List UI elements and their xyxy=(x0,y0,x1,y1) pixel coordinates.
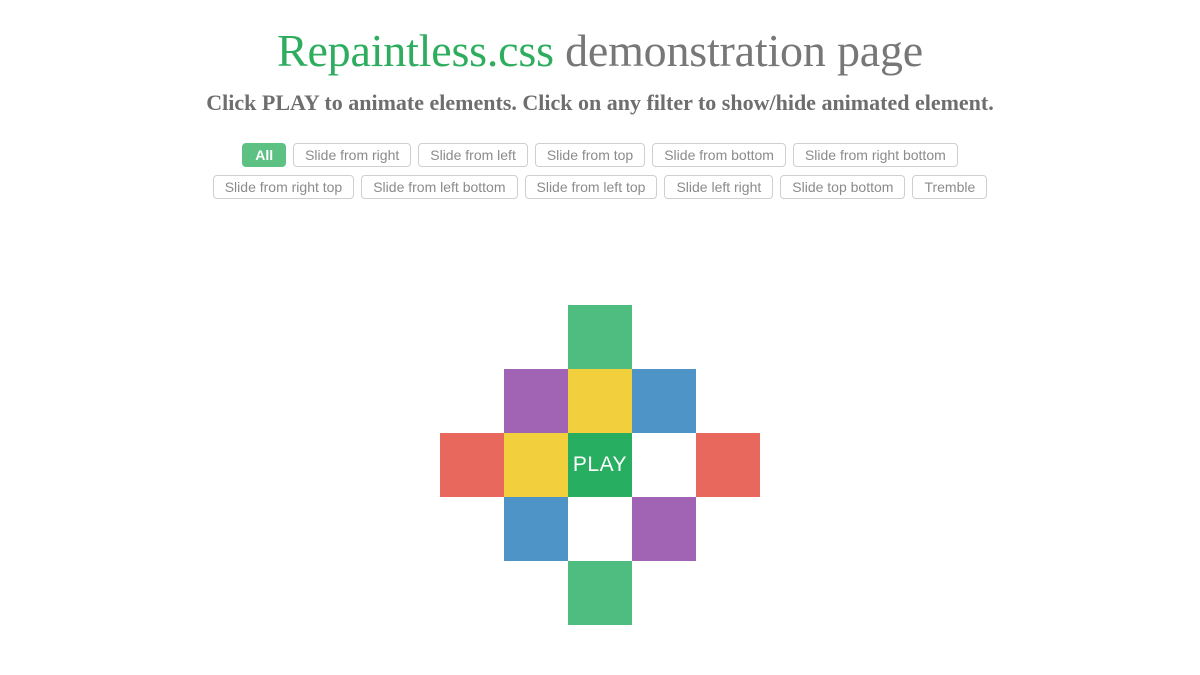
filter-button-slide-from-left-top[interactable]: Slide from left top xyxy=(525,175,658,199)
cell-r2c1 xyxy=(440,369,504,433)
cell-r2c2 xyxy=(504,369,568,433)
animated-square-grid: PLAY xyxy=(440,305,760,625)
page-title-rest: demonstration page xyxy=(554,25,923,76)
filter-button-slide-from-right-top[interactable]: Slide from right top xyxy=(213,175,355,199)
cell-r4c5 xyxy=(696,497,760,561)
page-subtitle: Click PLAY to animate elements. Click on… xyxy=(0,78,1200,116)
filter-button-slide-from-right[interactable]: Slide from right xyxy=(293,143,411,167)
filter-button-slide-from-right-bottom[interactable]: Slide from right bottom xyxy=(793,143,958,167)
filter-button-slide-from-top[interactable]: Slide from top xyxy=(535,143,645,167)
cell-r3c5 xyxy=(696,433,760,497)
cell-r1c4 xyxy=(632,305,696,369)
filter-button-slide-top-bottom[interactable]: Slide top bottom xyxy=(780,175,905,199)
cell-r5c4 xyxy=(632,561,696,625)
cell-r5c3 xyxy=(568,561,632,625)
cell-r3c1 xyxy=(440,433,504,497)
cell-r4c1 xyxy=(440,497,504,561)
filter-button-slide-from-left-bottom[interactable]: Slide from left bottom xyxy=(361,175,517,199)
cell-r1c3 xyxy=(568,305,632,369)
play-button[interactable]: PLAY xyxy=(568,433,632,497)
filter-button-slide-from-left[interactable]: Slide from left xyxy=(418,143,528,167)
cell-r5c5 xyxy=(696,561,760,625)
cell-r3c2 xyxy=(504,433,568,497)
filter-button-group: AllSlide from rightSlide from leftSlide … xyxy=(180,116,1020,199)
animation-stage: PLAY xyxy=(0,290,1200,640)
page-title: Repaintless.css demonstration page xyxy=(0,0,1200,78)
filter-button-slide-left-right[interactable]: Slide left right xyxy=(664,175,773,199)
cell-r5c1 xyxy=(440,561,504,625)
cell-r2c3 xyxy=(568,369,632,433)
filter-button-slide-from-bottom[interactable]: Slide from bottom xyxy=(652,143,786,167)
cell-r2c4 xyxy=(632,369,696,433)
cell-r3c4 xyxy=(632,433,696,497)
cell-r4c2 xyxy=(504,497,568,561)
cell-r1c1 xyxy=(440,305,504,369)
cell-r1c5 xyxy=(696,305,760,369)
cell-r5c2 xyxy=(504,561,568,625)
cell-r4c3 xyxy=(568,497,632,561)
page-title-brand: Repaintless.css xyxy=(277,25,554,76)
cell-r1c2 xyxy=(504,305,568,369)
filter-button-tremble[interactable]: Tremble xyxy=(912,175,987,199)
cell-r2c5 xyxy=(696,369,760,433)
cell-r4c4 xyxy=(632,497,696,561)
filter-button-all[interactable]: All xyxy=(242,143,286,167)
